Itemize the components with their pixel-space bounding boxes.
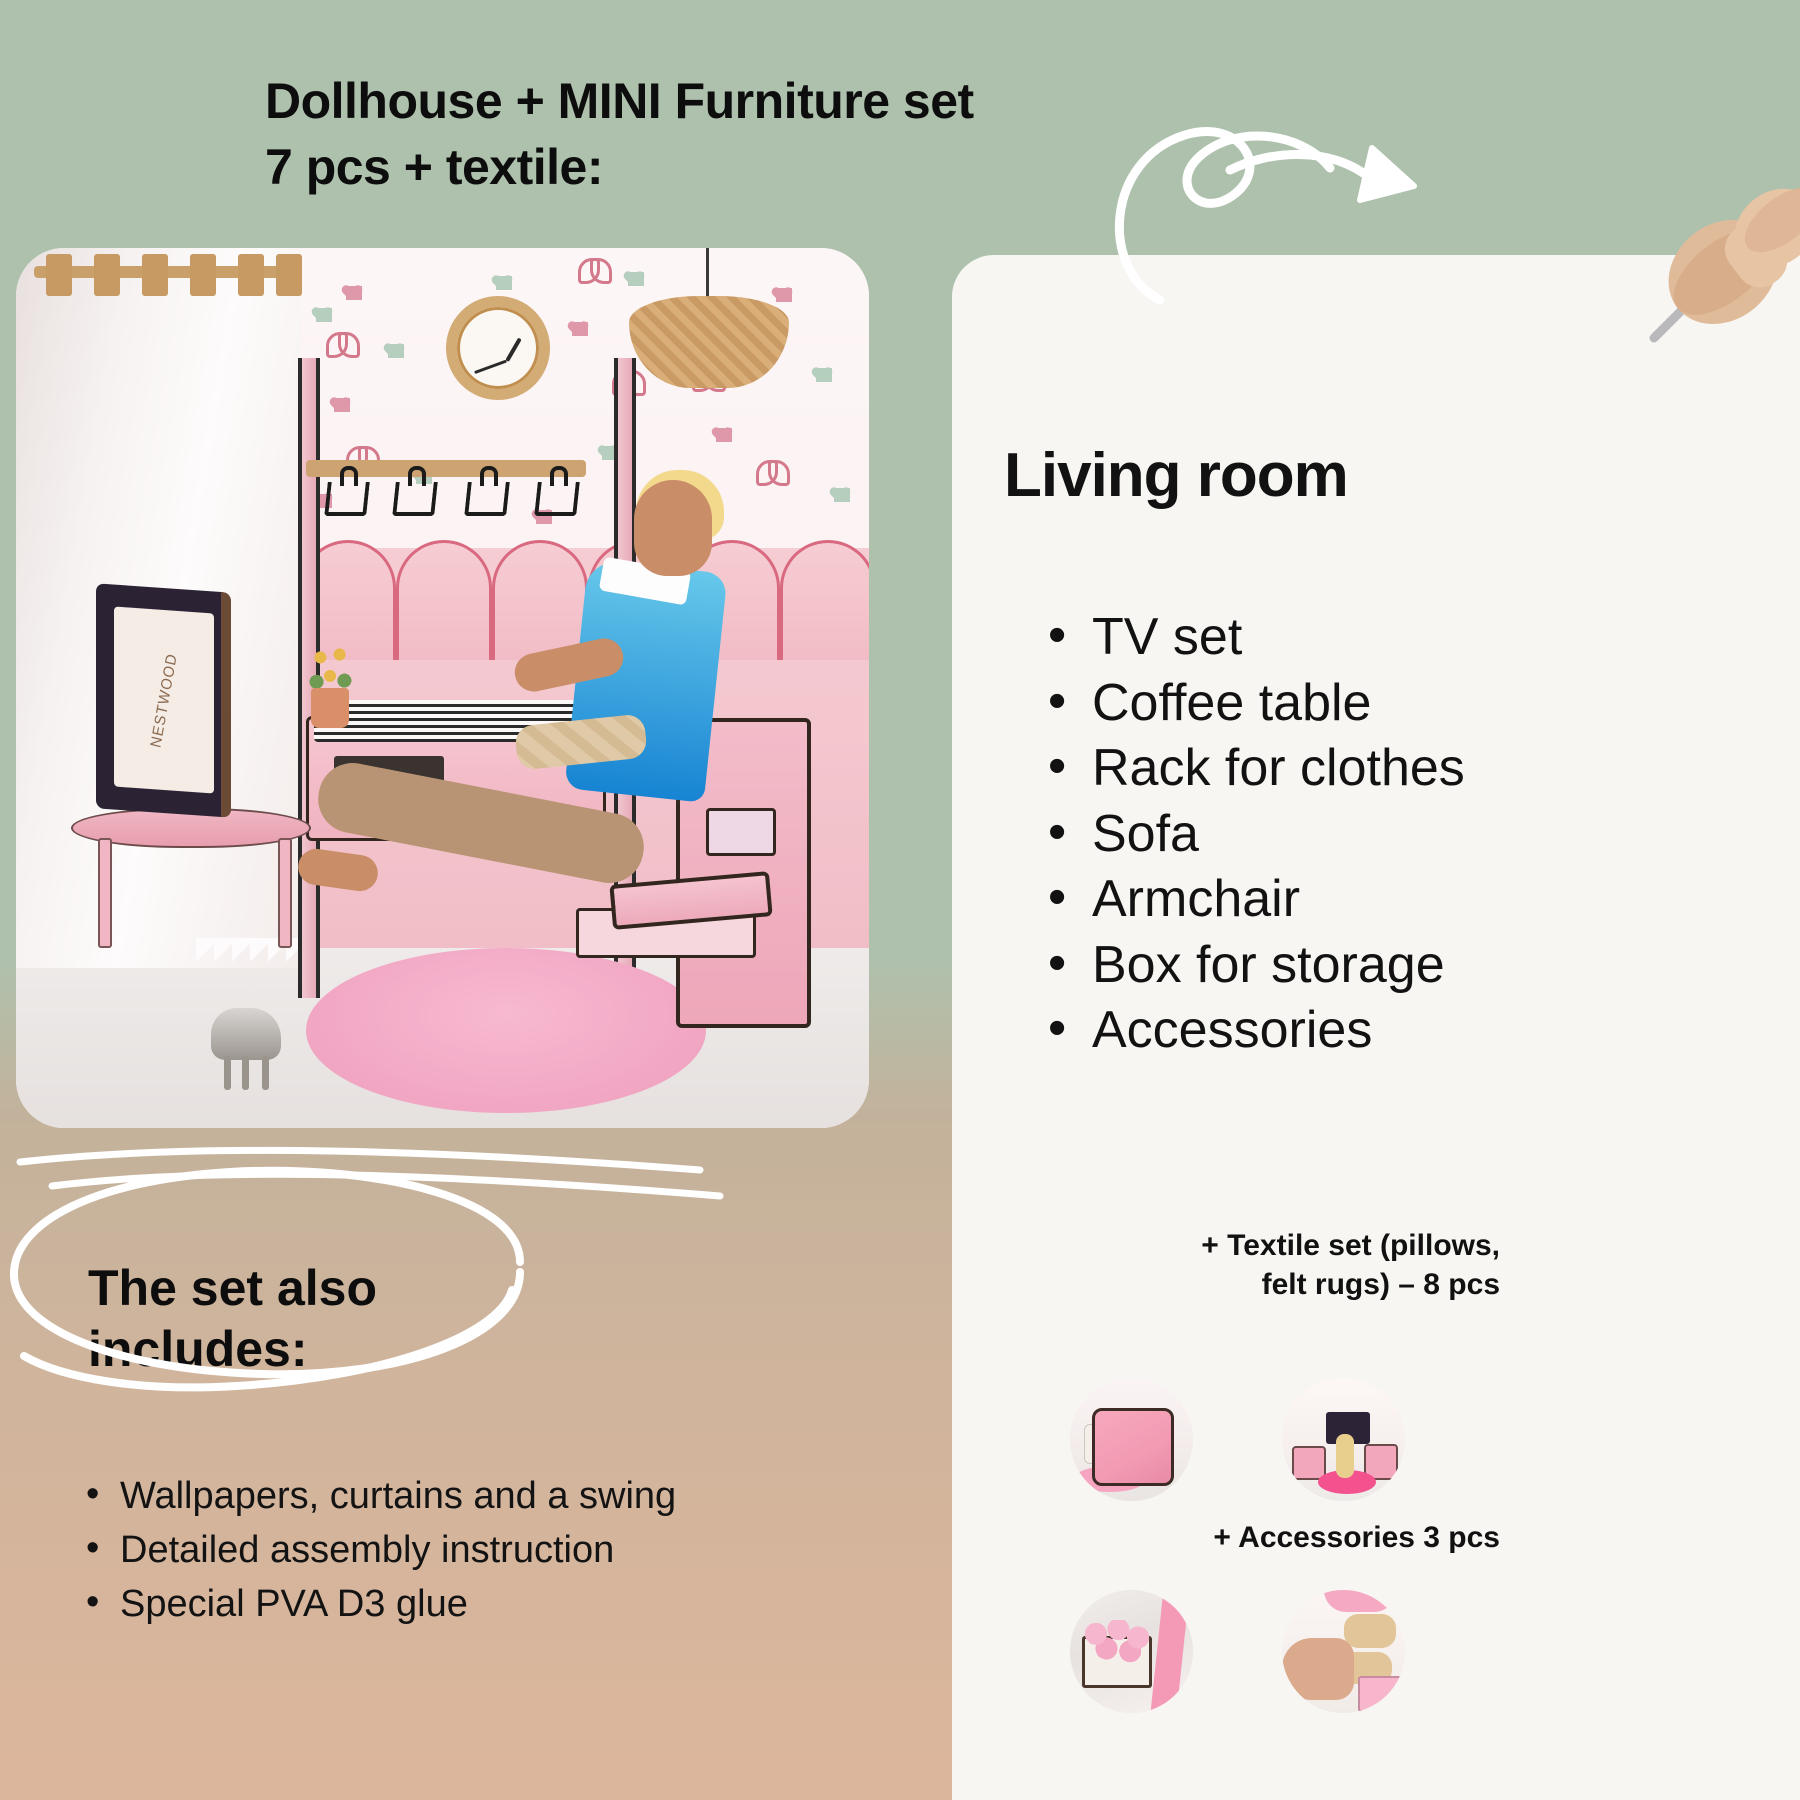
wainscot-arc (492, 540, 588, 660)
tv-screen: NESTWOOD (114, 607, 214, 794)
page-title: Dollhouse + MINI Furniture set 7 pcs + t… (265, 68, 1195, 200)
thumb-image (1282, 1378, 1405, 1501)
room-contents-list: TV set Coffee table Rack for clothes Sof… (1040, 605, 1465, 1064)
set-also-includes-title: The set also includes: (88, 1258, 377, 1380)
clock-minute-hand (474, 360, 507, 374)
curtain-tab (276, 254, 302, 296)
thumb-console (1358, 1676, 1402, 1712)
heart-motif (496, 276, 512, 290)
wall-clock (446, 296, 550, 400)
bow-motif (756, 460, 790, 480)
bow-motif (326, 332, 360, 352)
double-squiggle-underline (20, 1150, 720, 1196)
doll-head (634, 480, 712, 576)
thumb-image (1282, 1590, 1405, 1713)
thumb-roses (1084, 1620, 1150, 1666)
tv-brand-label: NESTWOOD (147, 651, 180, 749)
also-includes-list: Wallpapers, curtains and a swing Detaile… (78, 1470, 676, 1632)
dog-leg (262, 1056, 269, 1090)
heart-motif (572, 322, 588, 336)
curtain-tab (238, 254, 264, 296)
wainscot-arc (396, 540, 492, 660)
table-leg (98, 838, 112, 948)
table-leg (278, 838, 292, 948)
pendant-lamp (629, 296, 789, 388)
thumb-doll (1336, 1434, 1354, 1478)
thumb-image (1070, 1378, 1193, 1501)
list-item: TV set (1040, 605, 1465, 671)
heart-motif (346, 286, 362, 300)
curtain-tab (190, 254, 216, 296)
armchair-with-pillows-thumb (1070, 1378, 1193, 1501)
hanger-icon (466, 476, 500, 526)
textile-set-note: + Textile set (pillows, felt rugs) – 8 p… (1030, 1226, 1500, 1304)
thumb-rug (1074, 1466, 1146, 1492)
poster-root: Dollhouse + MINI Furniture set 7 pcs + t… (0, 0, 1800, 1800)
clock-hour-hand (505, 337, 521, 362)
list-item: Special PVA D3 glue (78, 1578, 676, 1632)
plant-pot (311, 688, 349, 728)
thumb-image (1070, 1590, 1193, 1713)
heart-motif (334, 398, 350, 412)
accessories-note: + Accessories 3 pcs (1030, 1518, 1500, 1557)
dollhouse-living-room-photo: NESTWOOD (16, 248, 869, 1128)
armchair-cutout (706, 808, 776, 856)
list-item: Wallpapers, curtains and a swing (78, 1470, 676, 1524)
heart-motif (316, 308, 332, 322)
toy-dog (211, 1008, 281, 1060)
heart-motif (388, 344, 404, 358)
thumb-hand (1282, 1638, 1354, 1700)
list-item: Detailed assembly instruction (78, 1524, 676, 1578)
pink-round-rug (306, 948, 706, 1113)
heart-motif (834, 488, 850, 502)
hanger-icon (394, 476, 428, 526)
curtain-tab (94, 254, 120, 296)
heart-motif (628, 272, 644, 286)
bow-motif (578, 258, 612, 278)
thumb-table (1324, 1590, 1396, 1612)
list-item: Accessories (1040, 998, 1465, 1064)
wainscot-arc (780, 540, 869, 660)
heart-motif (776, 288, 792, 302)
arrow-head-icon (1360, 148, 1414, 200)
list-item: Rack for clothes (1040, 736, 1465, 802)
thumb-pink-panel (1151, 1590, 1190, 1713)
list-item: Coffee table (1040, 671, 1465, 737)
living-room-scene-thumb (1282, 1378, 1405, 1501)
cat-pillow (1084, 1424, 1128, 1464)
dog-leg (224, 1056, 231, 1090)
list-item: Armchair (1040, 867, 1465, 933)
dog-leg (242, 1056, 249, 1090)
curtain-tab (46, 254, 72, 296)
curtain-tab (142, 254, 168, 296)
room-title: Living room (1004, 440, 1348, 511)
list-item: Box for storage (1040, 933, 1465, 999)
accessories-in-hand-thumb (1282, 1590, 1405, 1713)
storage-box-with-roses-thumb (1070, 1590, 1193, 1713)
thumb-gamepad-a (1344, 1614, 1396, 1648)
hanger-icon (326, 476, 360, 526)
heart-motif (716, 428, 732, 442)
thumb-chair-left (1292, 1446, 1326, 1480)
heart-motif (816, 368, 832, 382)
hanger-icon (536, 476, 570, 526)
list-item: Sofa (1040, 802, 1465, 868)
